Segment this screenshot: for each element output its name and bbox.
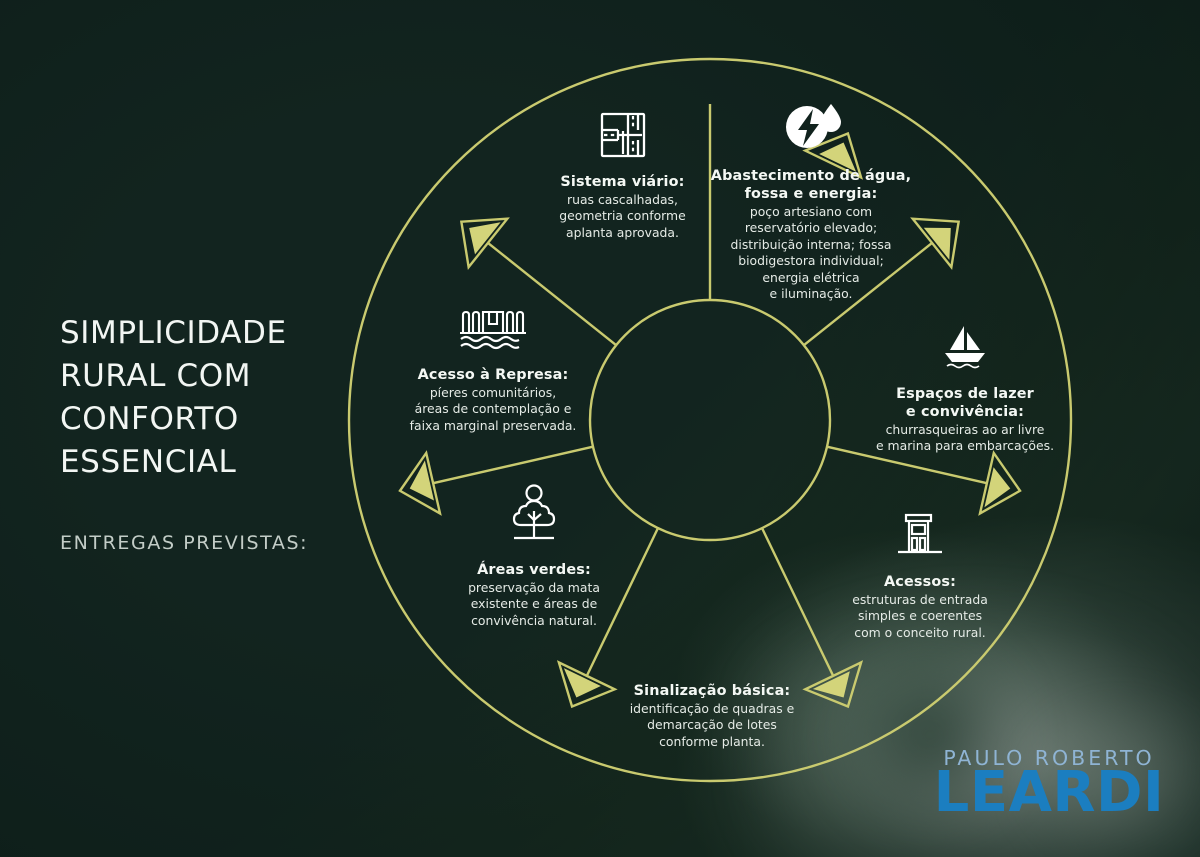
segment-sinalizacao: Sinalização básica: identificação de qua… <box>607 682 817 750</box>
segment-body: poço artesiano com reservatório elevado;… <box>705 204 917 302</box>
energy-water-icon <box>705 100 917 158</box>
segment-body: ruas cascalhadas, geometria conforme apl… <box>515 192 730 241</box>
segment-title: Espaços de lazer e convivência: <box>860 385 1070 421</box>
segment-body: churrasqueiras ao ar livre e marina para… <box>860 422 1070 455</box>
left-text-panel: SIMPLICIDADE RURAL COM CONFORTO ESSENCIA… <box>60 312 360 554</box>
dam-icon <box>392 307 594 357</box>
segment-title: Abastecimento de água, fossa e energia: <box>705 167 917 203</box>
segment-body: identificação de quadras e demarcação de… <box>607 701 817 750</box>
segment-acessos: Acessos: estruturas de entrada simples e… <box>815 510 1025 641</box>
infographic-page: SIMPLICIDADE RURAL COM CONFORTO ESSENCIA… <box>0 0 1200 857</box>
logo-bottom-line: LEARDI <box>925 765 1173 821</box>
brand-logo: PAULO ROBERTO LEARDI <box>925 748 1173 821</box>
segment-title: Sinalização básica: <box>607 682 817 700</box>
road-intersection-icon <box>515 110 730 164</box>
gatehouse-icon <box>815 510 1025 564</box>
segment-body: preservação da mata existente e áreas de… <box>434 580 634 629</box>
segment-abastecimento: Abastecimento de água, fossa e energia: … <box>705 100 917 302</box>
segment-title: Acesso à Represa: <box>392 366 594 384</box>
segment-body: píeres comunitários, áreas de contemplaç… <box>392 385 594 434</box>
segment-title: Sistema viário: <box>515 173 730 191</box>
segment-sistema-viario: Sistema viário: ruas cascalhadas, geomet… <box>515 110 730 241</box>
subtitle-label: ENTREGAS PREVISTAS: <box>60 532 360 554</box>
page-title: SIMPLICIDADE RURAL COM CONFORTO ESSENCIA… <box>60 312 360 484</box>
segment-body: estruturas de entrada simples e coerente… <box>815 592 1025 641</box>
segment-espacos-lazer: Espaços de lazer e convivência: churrasq… <box>860 322 1070 455</box>
segment-acesso-represa: Acesso à Represa: píeres comunitários, á… <box>392 307 594 434</box>
sailboat-icon <box>860 322 1070 376</box>
segment-title: Áreas verdes: <box>434 561 634 579</box>
segment-title: Acessos: <box>815 573 1025 591</box>
segment-areas-verdes: Áreas verdes: preservação da mata existe… <box>434 482 634 629</box>
tree-icon <box>434 482 634 552</box>
